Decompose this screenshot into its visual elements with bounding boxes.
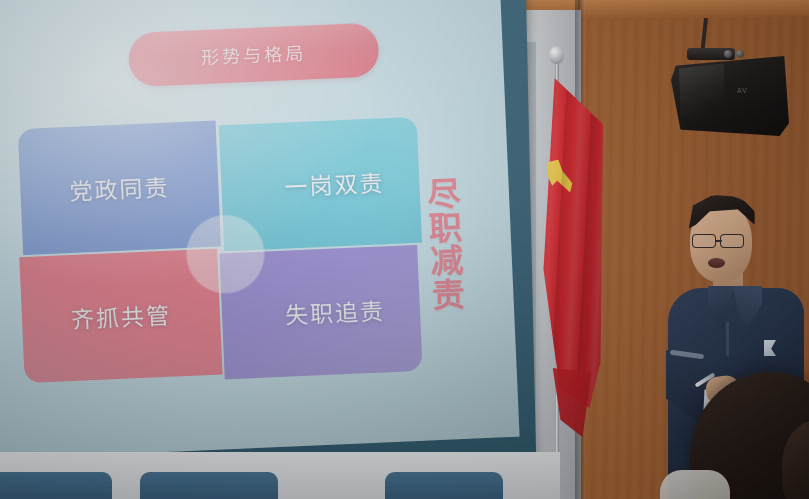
- quadrant-top-right: 一岗双责: [219, 117, 422, 252]
- speaker-brand-text: AV: [737, 88, 748, 95]
- glasses-icon: [692, 234, 752, 249]
- quadrant-bottom-left: 齐抓共管: [19, 249, 222, 384]
- quadrant-matrix: 党政同责 一岗双责 齐抓共管 失职追责: [14, 112, 425, 386]
- room-photo-scene: 形势与格局 党政同责 一岗双责 齐抓共管 失职追责: [0, 0, 809, 499]
- slide-vertical-text: 尽 职 减 责: [421, 177, 471, 313]
- quadrant-center-circle: [185, 214, 266, 295]
- flag-pole-finial: [549, 46, 564, 64]
- chair-back: [385, 472, 503, 499]
- presenter-shirt-placket: [726, 322, 729, 356]
- projector-hotspot: [0, 0, 419, 314]
- slide-title-pill: 形势与格局: [128, 22, 380, 87]
- quadrant-top-left: 党政同责: [18, 121, 221, 256]
- glasses-lens-right: [720, 234, 744, 248]
- speaker-bracket-knob: [724, 50, 732, 58]
- vertical-text-char-1: 尽: [427, 177, 461, 212]
- slide-canvas: 形势与格局 党政同责 一岗双责 齐抓共管 失职追责: [0, 0, 520, 459]
- projection-screen: 形势与格局 党政同责 一岗双责 齐抓共管 失职追责: [0, 0, 520, 459]
- projection-screen-frame: 形势与格局 党政同责 一岗双责 齐抓共管 失职追责: [0, 0, 536, 475]
- glasses-lens-left: [692, 234, 716, 248]
- vertical-text-char-2: 职: [428, 211, 462, 246]
- vertical-text-char-4: 责: [431, 278, 465, 313]
- vertical-text-char-3: 减: [430, 244, 464, 279]
- screen-vignette: [0, 0, 520, 459]
- slide-title-text: 形势与格局: [201, 40, 307, 71]
- audience-shoulder: [660, 470, 730, 499]
- quadrant-label-bottom-right: 失职追责: [284, 292, 385, 330]
- speaker-front-panel: [676, 62, 724, 128]
- presenter-mouth: [708, 258, 725, 268]
- chair-back: [140, 472, 278, 499]
- chair-back: [0, 472, 112, 499]
- quadrant-bottom-right: 失职追责: [219, 245, 422, 380]
- speaker-bracket-knob: [736, 50, 744, 58]
- quadrant-label-bottom-left: 齐抓共管: [70, 297, 171, 335]
- quadrant-label-top-left: 党政同责: [69, 169, 170, 207]
- quadrant-label-top-right: 一岗双责: [284, 164, 385, 202]
